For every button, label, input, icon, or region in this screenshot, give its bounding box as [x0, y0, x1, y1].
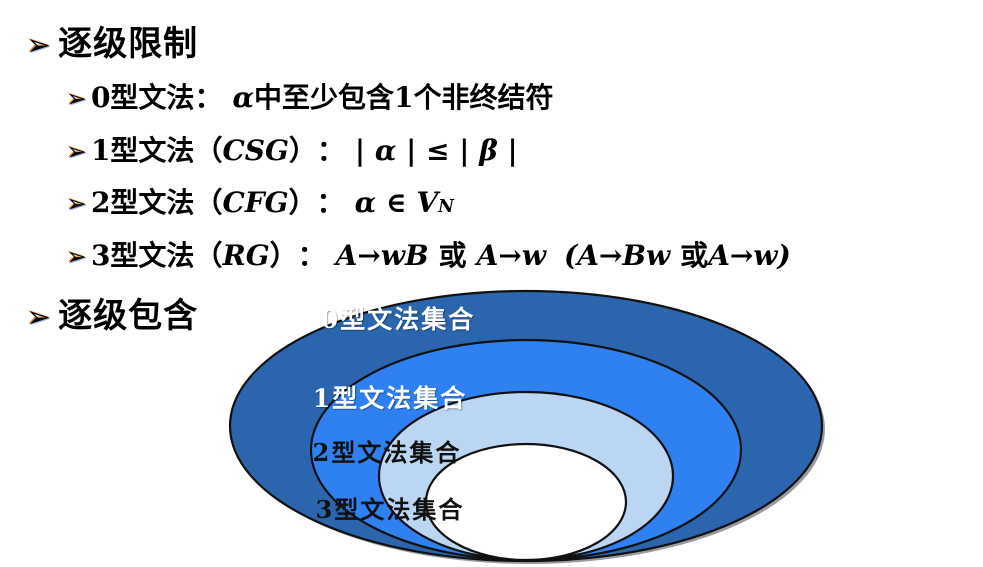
rule-type1-name: 1型文法: [91, 129, 194, 169]
ring0-label: 0型文法集合: [248, 300, 548, 336]
rule-type0-condition: 中至少包含: [254, 76, 394, 116]
rule-type2-name: 2型文法: [91, 181, 194, 221]
bullet-arrow-icon: ➢: [66, 139, 87, 164]
rule-type0-count: 1: [394, 81, 413, 114]
rule-type3-abbrev: RG: [222, 239, 269, 272]
rule-type0-condition-tail: 个非终结符: [414, 76, 554, 116]
rule-type2-abbrev: CFG: [222, 186, 288, 219]
rule-type1-formula: | α | ≤ | β |: [355, 134, 518, 167]
heading-1-label: 逐级限制: [58, 16, 198, 65]
rule-type3-paren-close: ）: [270, 234, 298, 274]
rule-type3-alt-close: ): [777, 239, 790, 272]
bullet-arrow-icon: ➢: [66, 86, 87, 111]
bullet-arrow-icon: ➢: [66, 244, 87, 269]
bullet-arrow-icon: ➢: [66, 191, 87, 216]
rule-type2-paren-close: ）: [289, 181, 317, 221]
rule-type3-production-c: A→Bw: [577, 239, 670, 272]
ring2-label: 2型文法集合: [237, 433, 537, 468]
rule-type3-production-a: A→wB: [336, 239, 429, 272]
rule-type3-production-d: A→w: [708, 239, 777, 272]
bullet-arrow-icon: ➢: [26, 31, 52, 61]
rule-type1-abbrev: CSG: [222, 134, 288, 167]
rule-type0-name: 0型文法: [91, 76, 194, 116]
rule-type1-paren-close: ）: [289, 129, 317, 169]
rule-type2-paren-open: （: [194, 181, 222, 221]
slide-canvas: ➢ 逐级限制 ➢ 0型文法 ： α 中至少包含 1 个非终结符 ➢ 1型文法 （…: [0, 0, 983, 567]
rule-type2-formula-subscript: N: [438, 197, 454, 217]
heading-zhuji-baohan: ➢ 逐级包含: [26, 288, 198, 337]
rule-type2: ➢ 2型文法 （ CFG ） ： α ∈ VN: [66, 181, 454, 221]
rule-type3-alt-open: (: [564, 239, 577, 272]
rule-type3-or-1: 或: [439, 234, 467, 274]
rule-type3: ➢ 3型文法 （ RG ） ： A→wB 或 A→w ( A→Bw 或 A→w …: [66, 234, 791, 274]
rule-type2-colon: ：: [317, 181, 345, 221]
rule-type3-colon: ：: [298, 234, 326, 274]
rule-type0-colon: ：: [194, 76, 222, 116]
rule-type0: ➢ 0型文法 ： α 中至少包含 1 个非终结符: [66, 76, 554, 116]
rule-type1-colon: ：: [317, 129, 345, 169]
bullet-arrow-icon: ➢: [26, 303, 52, 333]
ring1-label: 1型文法集合: [240, 379, 540, 415]
rule-type3-or-2: 或: [680, 234, 708, 274]
rule-type0-alpha: α: [232, 81, 254, 114]
rule-type3-name: 3型文法: [91, 234, 194, 274]
rule-type2-formula: α ∈ V: [355, 186, 439, 219]
rule-type3-paren-open: （: [194, 234, 222, 274]
rule-type3-production-b: A→w: [477, 239, 546, 272]
rule-type1-paren-open: （: [194, 129, 222, 169]
heading-zhuji-xianzhi: ➢ 逐级限制: [26, 16, 198, 65]
rule-type1: ➢ 1型文法 （ CSG ） ： | α | ≤ | β |: [66, 129, 518, 169]
ring3-label: 3型文法集合: [240, 490, 540, 525]
heading-2-label: 逐级包含: [58, 288, 198, 337]
